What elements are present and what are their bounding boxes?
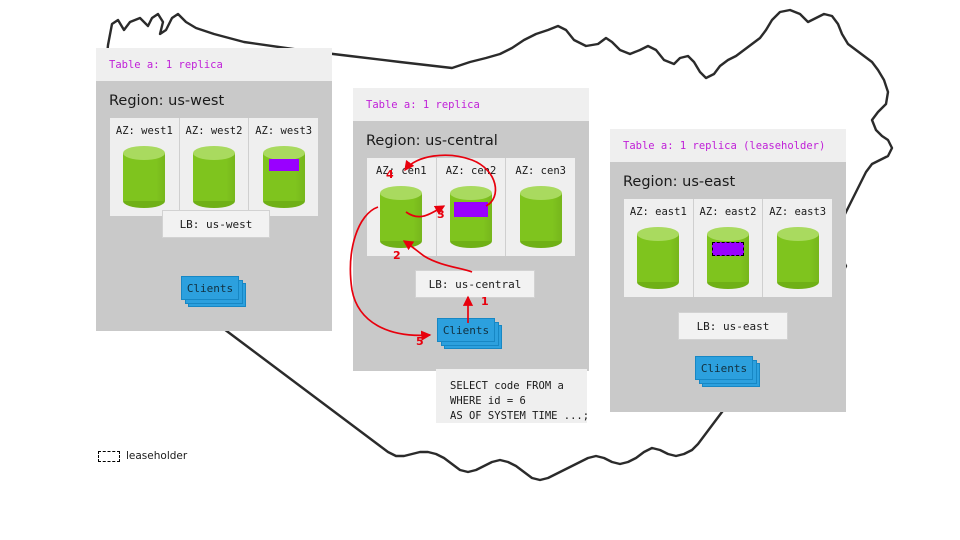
region-title-us-central: Region: us-central (353, 124, 498, 149)
az-label: AZ: cen3 (515, 165, 566, 177)
replica-cylinder (707, 227, 749, 289)
region-panel-us-east: Table a: 1 replica (leaseholder) Region:… (610, 129, 846, 412)
dashed-rectangle-icon (98, 451, 120, 462)
sql-query-box: SELECT code FROM a WHERE id = 6 AS OF SY… (436, 369, 587, 423)
az-label: AZ: cen1 (376, 165, 427, 177)
az-label: AZ: cen2 (446, 165, 497, 177)
replica-cylinder (123, 146, 165, 208)
replica-cylinder (450, 186, 492, 248)
az-cell-cen1[interactable]: AZ: cen1 (367, 158, 437, 256)
az-cell-cen2[interactable]: AZ: cen2 (437, 158, 507, 256)
az-label: AZ: east3 (769, 206, 826, 218)
az-label: AZ: west1 (116, 125, 173, 137)
step-number-2: 2 (393, 249, 401, 262)
replica-cylinder (380, 186, 422, 248)
replica-cylinder (263, 146, 305, 208)
az-cell-east1[interactable]: AZ: east1 (624, 199, 694, 297)
diagram-canvas: Table a: 1 replica Region: us-west AZ: w… (0, 0, 960, 540)
load-balancer-us-east[interactable]: LB: us-east (678, 312, 788, 340)
region-title-us-west: Region: us-west (96, 84, 224, 109)
replica-cylinder (193, 146, 235, 208)
az-cell-west3[interactable]: AZ: west3 (249, 118, 318, 216)
clients-label: Clients (437, 318, 495, 342)
step-number-5: 5 (416, 335, 424, 348)
az-strip-us-west: AZ: west1 AZ: west2 AZ: west3 (110, 118, 318, 216)
replica-cylinder (637, 227, 679, 289)
az-cell-west2[interactable]: AZ: west2 (180, 118, 250, 216)
step-number-3: 3 (437, 208, 445, 221)
legend-label: leaseholder (126, 450, 187, 462)
clients-stack-us-west[interactable]: Clients (181, 276, 249, 310)
az-cell-west1[interactable]: AZ: west1 (110, 118, 180, 216)
az-label: AZ: west2 (186, 125, 243, 137)
clients-stack-us-central[interactable]: Clients (437, 318, 505, 352)
az-cell-cen3[interactable]: AZ: cen3 (506, 158, 575, 256)
replica-block-west3 (269, 159, 299, 171)
step-number-1: 1 (481, 295, 489, 308)
clients-label: Clients (695, 356, 753, 380)
region-panel-us-west: Table a: 1 replica Region: us-west AZ: w… (96, 48, 332, 331)
replica-cylinder (777, 227, 819, 289)
replica-block-cen2 (454, 202, 488, 217)
table-banner-us-east: Table a: 1 replica (leaseholder) (610, 129, 846, 162)
az-strip-us-east: AZ: east1 AZ: east2 AZ: east3 (624, 199, 832, 297)
region-title-us-east: Region: us-east (610, 165, 735, 190)
clients-stack-us-east[interactable]: Clients (695, 356, 763, 390)
load-balancer-us-west[interactable]: LB: us-west (162, 210, 270, 238)
replica-block-east2-leaseholder (712, 242, 744, 256)
clients-label: Clients (181, 276, 239, 300)
az-label: AZ: east1 (630, 206, 687, 218)
load-balancer-us-central[interactable]: LB: us-central (415, 270, 535, 298)
region-panel-us-central: Table a: 1 replica Region: us-central AZ… (353, 88, 589, 371)
az-cell-east2[interactable]: AZ: east2 (694, 199, 764, 297)
table-banner-us-west: Table a: 1 replica (96, 48, 332, 81)
az-label: AZ: east2 (700, 206, 757, 218)
legend-leaseholder: leaseholder (98, 450, 187, 462)
step-number-4: 4 (386, 168, 394, 181)
az-label: AZ: west3 (255, 125, 312, 137)
table-banner-us-central: Table a: 1 replica (353, 88, 589, 121)
replica-cylinder (520, 186, 562, 248)
az-strip-us-central: AZ: cen1 AZ: cen2 AZ: cen3 (367, 158, 575, 256)
az-cell-east3[interactable]: AZ: east3 (763, 199, 832, 297)
